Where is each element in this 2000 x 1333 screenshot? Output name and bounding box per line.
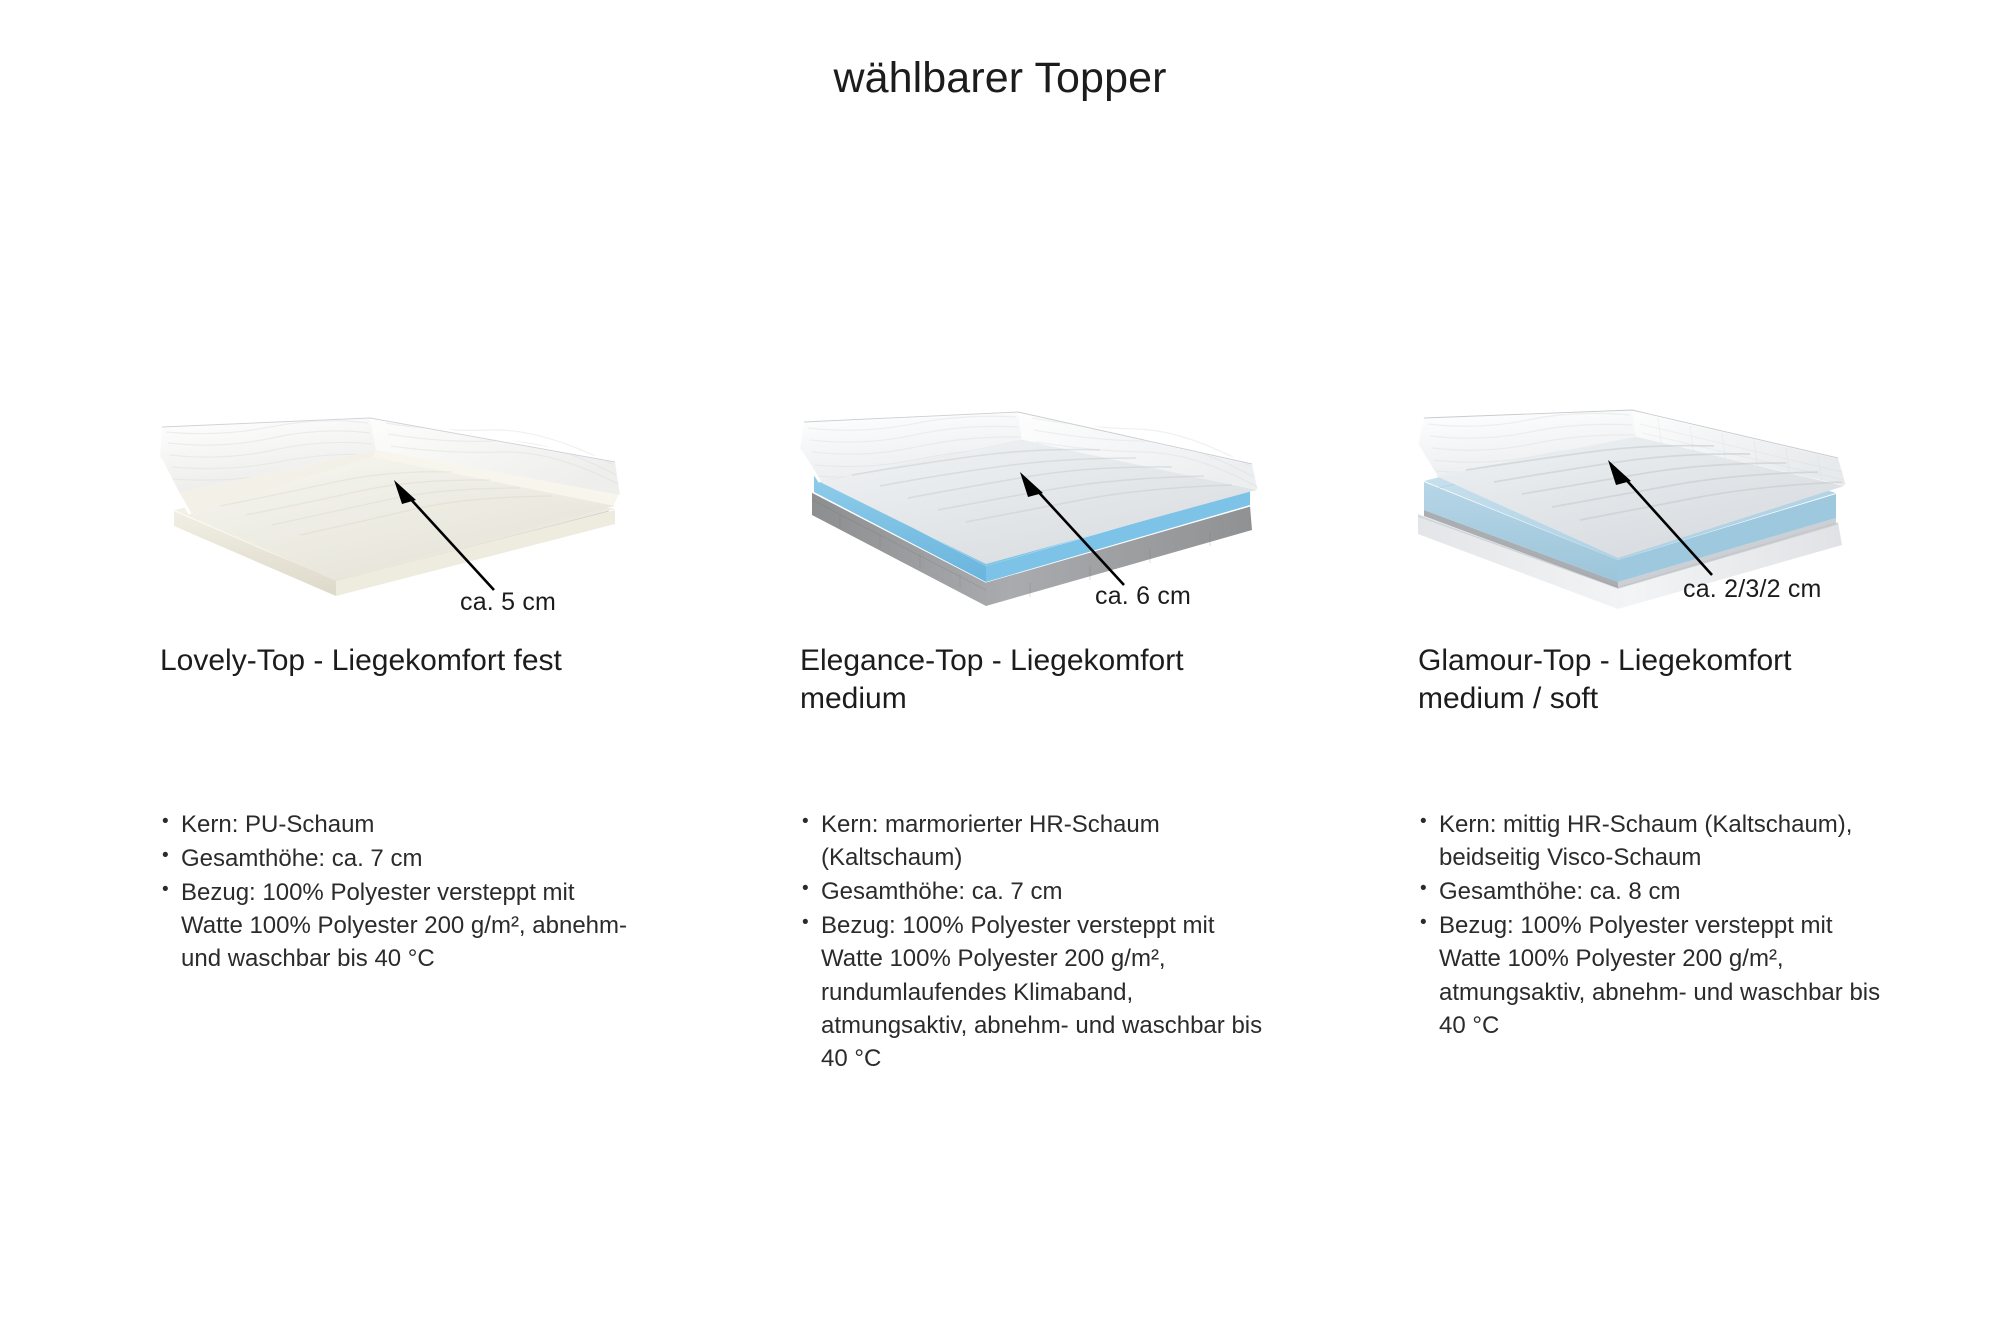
- product-title-elegance-top: Elegance-Top - Liegekomfort medium: [800, 642, 1270, 719]
- list-item: Gesamthöhe: ca. 8 cm: [1418, 875, 1888, 908]
- product-specs-glamour-top: Kern: mittig HR-Schaum (Kaltschaum), bei…: [1418, 808, 1888, 1043]
- list-item: Bezug: 100% Polyester versteppt mit Watt…: [1418, 909, 1888, 1041]
- callout-arrow-lovely-top: [390, 480, 500, 595]
- page-title: wählbarer Topper: [0, 54, 2000, 103]
- product-card-glamour-top: ca. 2/3/2 cm Glamour-Top - Liegekomfort …: [1418, 410, 2000, 615]
- list-item: Kern: mittig HR-Schaum (Kaltschaum), bei…: [1418, 808, 1888, 874]
- list-item: Gesamthöhe: ca. 7 cm: [800, 875, 1270, 908]
- product-title-glamour-top: Glamour-Top - Liegekomfort medium / soft: [1418, 642, 1888, 719]
- product-card-elegance-top: ca. 6 cm Elegance-Top - Liegekomfort med…: [800, 410, 1400, 615]
- callout-arrow-glamour-top: [1603, 460, 1718, 580]
- product-card-lovely-top: ca. 5 cm Lovely-Top - Liegekomfort fest …: [160, 410, 760, 615]
- callout-arrow-elegance-top: [1015, 472, 1130, 590]
- thickness-label-elegance-top: ca. 6 cm: [1095, 582, 1191, 611]
- list-item: Kern: PU-Schaum: [160, 808, 630, 841]
- thickness-label-glamour-top: ca. 2/3/2 cm: [1683, 575, 1822, 604]
- list-item: Gesamthöhe: ca. 7 cm: [160, 842, 630, 875]
- product-image-elegance-top: ca. 6 cm: [800, 410, 1260, 615]
- product-image-glamour-top: ca. 2/3/2 cm: [1418, 410, 1848, 615]
- list-item: Bezug: 100% Polyester versteppt mit Watt…: [160, 876, 630, 975]
- product-title-lovely-top: Lovely-Top - Liegekomfort fest: [160, 642, 630, 680]
- list-item: Bezug: 100% Polyester versteppt mit Watt…: [800, 909, 1270, 1075]
- list-item: Kern: marmorierter HR-Schaum (Kaltschaum…: [800, 808, 1270, 874]
- product-specs-lovely-top: Kern: PU-Schaum Gesamthöhe: ca. 7 cm Bez…: [160, 808, 630, 977]
- thickness-label-lovely-top: ca. 5 cm: [460, 588, 556, 617]
- product-specs-elegance-top: Kern: marmorierter HR-Schaum (Kaltschaum…: [800, 808, 1270, 1076]
- product-columns: ca. 5 cm Lovely-Top - Liegekomfort fest …: [0, 410, 2000, 1110]
- product-image-lovely-top: ca. 5 cm: [160, 410, 620, 615]
